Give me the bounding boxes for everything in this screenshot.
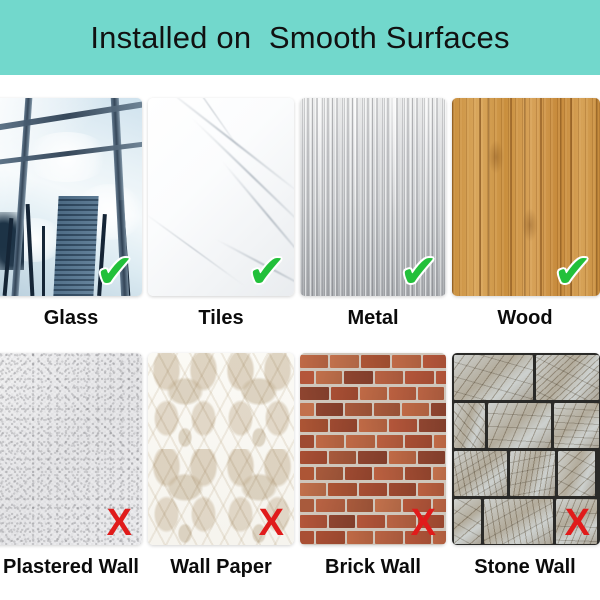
brick — [316, 403, 343, 416]
brick — [433, 467, 446, 480]
surface-cell-stone-wall[interactable]: X Stone Wall — [452, 353, 598, 579]
wood-surface-image: ✔ — [452, 98, 600, 296]
brick — [375, 531, 403, 544]
stone-block — [488, 403, 551, 448]
brick — [300, 355, 328, 368]
brick — [316, 435, 344, 448]
brick — [360, 387, 387, 400]
green-check-icon: ✔ — [553, 248, 592, 294]
brick-row — [300, 369, 446, 385]
brick — [331, 387, 358, 400]
brick — [300, 435, 314, 448]
brushed-streak — [354, 98, 356, 296]
wood-knot — [488, 140, 504, 174]
brick — [330, 419, 357, 432]
brick — [389, 451, 416, 464]
surface-cell-wood[interactable]: ✔ Wood — [452, 98, 598, 330]
brick — [316, 371, 342, 384]
brick — [418, 387, 444, 400]
brick-row — [300, 433, 446, 449]
red-cross-icon: X — [107, 504, 132, 542]
brick — [418, 483, 444, 496]
brick — [300, 483, 326, 496]
wood-knot — [522, 208, 538, 242]
stone-block — [454, 355, 533, 400]
brick-pattern — [300, 353, 446, 545]
stone-row — [452, 497, 600, 545]
brick — [300, 387, 329, 400]
brick — [405, 467, 431, 480]
surface-cell-wall-paper[interactable]: X Wall Paper — [148, 353, 294, 579]
stone-pattern — [452, 353, 600, 545]
brick — [316, 499, 345, 512]
brick — [405, 371, 434, 384]
brick — [423, 355, 446, 368]
brick — [387, 515, 416, 528]
stone-block — [454, 499, 481, 544]
glass-surface-image: ✔ — [0, 98, 142, 296]
window-mullion — [0, 98, 142, 132]
plank-seam — [479, 98, 481, 296]
brick — [431, 403, 446, 416]
stone-row — [452, 449, 600, 497]
brick — [328, 483, 357, 496]
green-check-icon: ✔ — [399, 248, 438, 294]
brick — [357, 515, 385, 528]
surface-label-wall-paper: Wall Paper — [148, 556, 294, 579]
brick — [389, 483, 416, 496]
brick — [375, 499, 401, 512]
brick — [375, 371, 403, 384]
brick — [300, 467, 314, 480]
surface-cell-brick-wall[interactable]: X Brick Wall — [300, 353, 446, 579]
stone-block — [554, 403, 599, 448]
stone-row — [452, 353, 600, 401]
brick-row — [300, 353, 446, 369]
page-title: Installed on Smooth Surfaces — [90, 20, 509, 56]
plank-seam — [570, 98, 572, 296]
brick — [359, 483, 387, 496]
brushed-streak — [392, 98, 396, 296]
brick — [419, 419, 446, 432]
brick — [418, 515, 444, 528]
brick-row — [300, 465, 446, 481]
tiles-surface-image: ✔ — [148, 98, 294, 296]
brushed-streak — [318, 98, 321, 296]
brick-row — [300, 481, 446, 497]
stone-block — [556, 499, 597, 544]
brick — [300, 419, 328, 432]
brick — [300, 515, 327, 528]
brick — [300, 499, 314, 512]
brick — [389, 387, 416, 400]
stone-block — [454, 403, 485, 448]
brick — [329, 515, 355, 528]
marble-vein — [220, 159, 294, 275]
surface-label-metal: Metal — [300, 307, 446, 330]
stone-row — [452, 401, 600, 449]
brick — [345, 403, 372, 416]
brick — [300, 403, 314, 416]
brick-wall-surface-image: X — [300, 353, 446, 545]
brick — [345, 467, 372, 480]
brick — [300, 371, 314, 384]
stone-block — [510, 451, 555, 496]
brick — [359, 419, 387, 432]
brick-row — [300, 385, 446, 401]
surface-label-plastered-wall: Plastered Wall — [0, 556, 142, 579]
brick — [347, 531, 373, 544]
plastered-wall-surface-image: X — [0, 353, 142, 545]
brick — [403, 499, 431, 512]
stone-block — [484, 499, 553, 544]
brick — [344, 371, 373, 384]
stone-wall-surface-image: X — [452, 353, 600, 545]
brushed-streak — [426, 98, 428, 296]
brick — [374, 467, 403, 480]
brick-row — [300, 401, 446, 417]
damask-pattern — [148, 353, 294, 545]
brick — [377, 435, 403, 448]
brick — [347, 499, 373, 512]
brick — [433, 531, 446, 544]
brick — [434, 435, 446, 448]
brick — [329, 451, 356, 464]
building-reflection — [53, 196, 98, 296]
brick — [346, 435, 375, 448]
header-banner: Installed on Smooth Surfaces — [0, 0, 600, 75]
stone-block — [536, 355, 599, 400]
brick — [392, 355, 421, 368]
marble-vein — [215, 238, 294, 296]
green-check-icon: ✔ — [247, 248, 286, 294]
brick — [405, 435, 432, 448]
pole-reflection — [42, 226, 45, 296]
brick — [300, 531, 314, 544]
brick-row — [300, 497, 446, 513]
brick-row — [300, 529, 446, 545]
brick — [330, 355, 359, 368]
brick — [358, 451, 387, 464]
brick-row — [300, 449, 446, 465]
brick-row — [300, 513, 446, 529]
plank-seam — [510, 98, 512, 296]
wall-paper-surface-image: X — [148, 353, 294, 545]
brick — [402, 403, 429, 416]
brick — [316, 467, 343, 480]
stone-block — [454, 451, 507, 496]
stone-block — [558, 451, 595, 496]
brick — [374, 403, 400, 416]
brick — [405, 531, 431, 544]
surface-label-stone-wall: Stone Wall — [452, 556, 598, 579]
brick — [389, 419, 417, 432]
surface-cell-plastered-wall[interactable]: X Plastered Wall — [0, 353, 142, 579]
surface-label-glass: Glass — [0, 307, 142, 330]
brick — [433, 499, 446, 512]
brick-row — [300, 417, 446, 433]
brick — [361, 355, 390, 368]
brick — [418, 451, 445, 464]
surface-cell-metal[interactable]: ✔ Metal — [300, 98, 446, 330]
surface-label-tiles: Tiles — [148, 307, 294, 330]
brick — [316, 531, 345, 544]
metal-surface-image: ✔ — [300, 98, 446, 296]
brick — [436, 371, 446, 384]
plank-seam — [540, 98, 542, 296]
surface-label-wood: Wood — [452, 307, 598, 330]
brick — [300, 451, 327, 464]
surface-label-brick-wall: Brick Wall — [300, 556, 446, 579]
surface-cell-tiles[interactable]: ✔ Tiles — [148, 98, 294, 330]
surface-cell-glass[interactable]: ✔ Glass — [0, 98, 142, 330]
